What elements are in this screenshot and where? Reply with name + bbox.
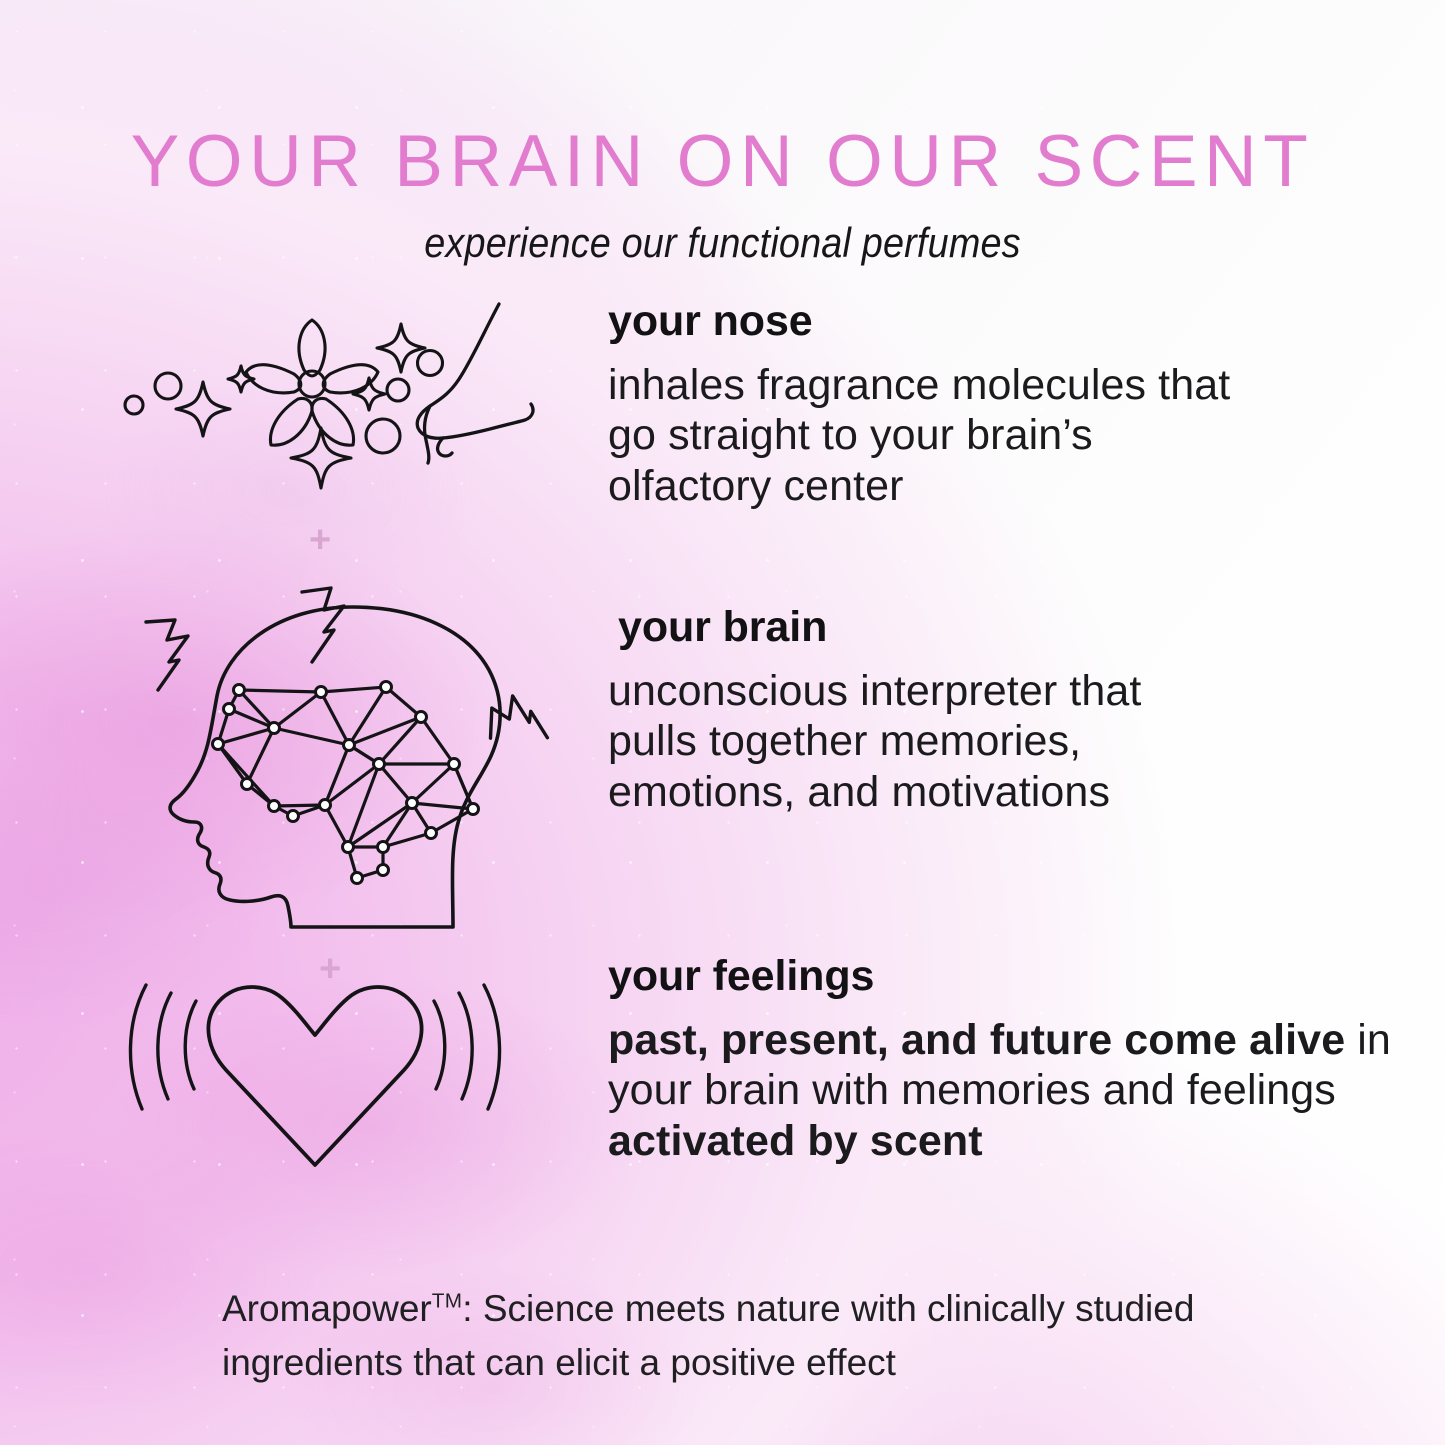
plus-separator-1: + — [309, 521, 331, 559]
your-feelings-heading: your feelings — [608, 955, 1398, 998]
nose-sparkles-flower-icon — [108, 300, 608, 500]
footer-brand: Aromapower — [222, 1288, 432, 1329]
section-your-nose: your nose inhales fragrance molecules th… — [108, 300, 1376, 511]
your-nose-heading: your nose — [608, 300, 1376, 343]
section-your-feelings: your feelings past, present, and future … — [108, 955, 1398, 1185]
section-your-brain: your brain unconscious interpreter that … — [108, 588, 1376, 928]
header: YOUR BRAIN ON OUR SCENT experience our f… — [0, 0, 1445, 267]
your-nose-text: your nose inhales fragrance molecules th… — [608, 300, 1376, 511]
infographic-poster: YOUR BRAIN ON OUR SCENT experience our f… — [0, 0, 1445, 1445]
head-neural-network-lightning-icon — [108, 588, 608, 928]
trademark-symbol: TM — [432, 1290, 463, 1313]
your-brain-body: unconscious interpreter that pulls toget… — [608, 666, 1376, 817]
your-brain-heading: your brain — [608, 606, 1376, 649]
your-feelings-body: past, present, and future come alive in … — [608, 1015, 1398, 1166]
your-brain-text: your brain unconscious interpreter that … — [608, 588, 1376, 928]
heart-vibration-icon — [108, 955, 608, 1185]
your-feelings-text: your feelings past, present, and future … — [608, 955, 1398, 1185]
page-subtitle: experience our functional perfumes — [72, 219, 1373, 267]
your-nose-body: inhales fragrance molecules that go stra… — [608, 360, 1376, 511]
page-title: YOUR BRAIN ON OUR SCENT — [0, 125, 1445, 198]
footer-disclaimer: AromapowerTM: Science meets nature with … — [222, 1282, 1262, 1389]
